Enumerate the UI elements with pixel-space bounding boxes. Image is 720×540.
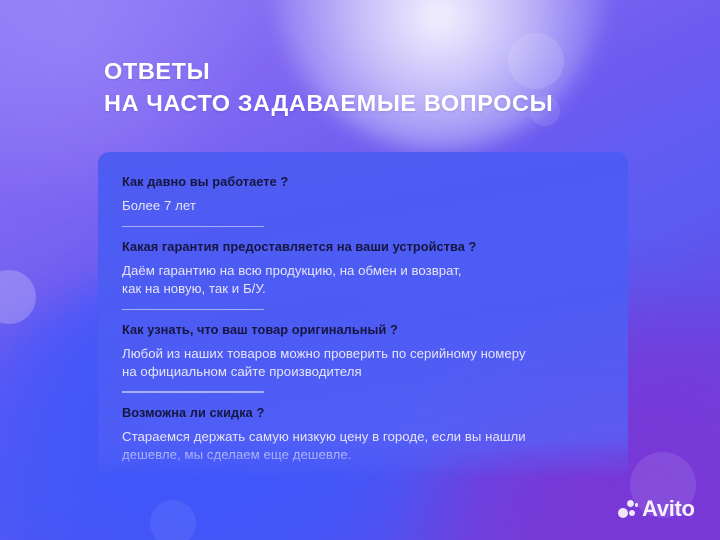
faq-answer-line: Любой из наших товаров можно проверить п… <box>122 345 604 363</box>
faq-divider <box>122 309 264 311</box>
faq-divider <box>122 226 264 228</box>
faq-card: Как давно вы работаете ? Более 7 лет Как… <box>98 152 628 478</box>
faq-poster: ОТВЕТЫ НА ЧАСТО ЗАДАВАЕМЫЕ ВОПРОСЫ Как д… <box>0 0 720 540</box>
faq-answer-line: как на новую, так и Б/У. <box>122 280 604 298</box>
avito-wordmark: Avito <box>642 498 695 520</box>
faq-item: Как узнать, что ваш товар оригинальный ?… <box>122 322 604 380</box>
faq-divider <box>122 391 264 393</box>
faq-answer: Любой из наших товаров можно проверить п… <box>122 345 604 380</box>
page-title-line-1: ОТВЕТЫ <box>104 55 553 87</box>
faq-question: Как узнать, что ваш товар оригинальный ? <box>122 322 604 338</box>
faq-answer-line: на официальном сайте производителя <box>122 363 604 381</box>
faq-answer-line: Даём гарантию на всю продукцию, на обмен… <box>122 262 604 280</box>
faq-answer: Даём гарантию на всю продукцию, на обмен… <box>122 262 604 297</box>
avito-watermark: Avito <box>618 498 695 520</box>
faq-question: Как давно вы работаете ? <box>122 174 604 190</box>
faq-answer-line: дешевле, мы сделаем еще дешевле. <box>122 446 604 464</box>
faq-answer-line: Стараемся держать самую низкую цену в го… <box>122 428 604 446</box>
faq-item: Какая гарантия предоставляется на ваши у… <box>122 239 604 297</box>
faq-item: Возможна ли скидка ? Стараемся держать с… <box>122 405 604 463</box>
faq-answer-line: Более 7 лет <box>122 197 604 215</box>
faq-question: Возможна ли скидка ? <box>122 405 604 421</box>
faq-question: Какая гарантия предоставляется на ваши у… <box>122 239 604 255</box>
faq-answer: Стараемся держать самую низкую цену в го… <box>122 428 604 463</box>
avito-dots-icon <box>618 500 638 519</box>
page-title: ОТВЕТЫ НА ЧАСТО ЗАДАВАЕМЫЕ ВОПРОСЫ <box>104 55 553 120</box>
page-title-line-2: НА ЧАСТО ЗАДАВАЕМЫЕ ВОПРОСЫ <box>104 87 553 119</box>
faq-item: Как давно вы работаете ? Более 7 лет <box>122 174 604 215</box>
faq-answer: Более 7 лет <box>122 197 604 215</box>
